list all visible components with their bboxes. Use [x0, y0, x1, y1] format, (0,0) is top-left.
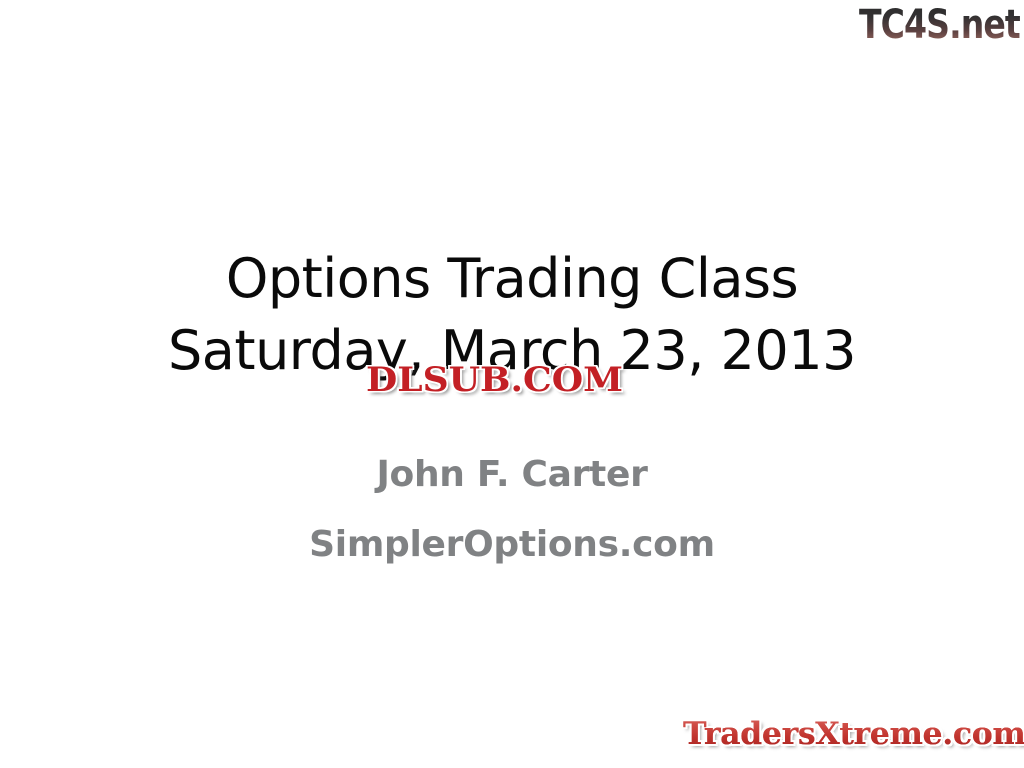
subtitle-block: John F. Carter SimplerOptions.com — [0, 440, 1024, 580]
presentation-slide: TC4S.net Options Trading Class Saturday,… — [0, 0, 1024, 768]
presenter-website: SimplerOptions.com — [0, 510, 1024, 580]
tradersxtreme-brand-logo: TradersXtreme.com — [683, 714, 1024, 754]
tc4s-brand-logo: TC4S.net — [859, 2, 1020, 48]
presenter-name: John F. Carter — [0, 440, 1024, 510]
dlsub-watermark: DLSUB.COM — [366, 360, 623, 400]
page-title-line-1: Options Trading Class — [0, 243, 1024, 315]
